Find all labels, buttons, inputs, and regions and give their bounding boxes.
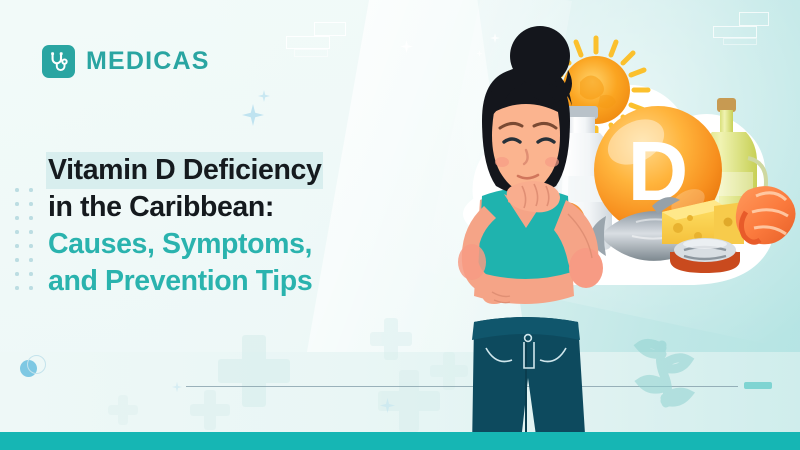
plant-silhouette bbox=[640, 343, 688, 403]
stethoscope-icon bbox=[42, 45, 75, 78]
decor-dot-grid bbox=[10, 183, 38, 295]
headline-line-2: in the Caribbean: bbox=[48, 189, 408, 226]
canned-sardines bbox=[670, 238, 740, 273]
decor-circle-outline bbox=[27, 355, 46, 374]
salmon-steak bbox=[736, 186, 796, 244]
brand-name: MEDICAS bbox=[86, 47, 210, 76]
promo-banner: MEDICAS Vitamin D Deficiency in the Cari… bbox=[0, 0, 800, 450]
medical-cross-icon bbox=[190, 390, 230, 430]
headline-line-4: and Prevention Tips bbox=[48, 263, 408, 300]
medical-cross-icon bbox=[108, 395, 138, 425]
vitamin-d-sources-illustration: D bbox=[400, 0, 800, 450]
headline-line-1-wrap: Vitamin D Deficiency bbox=[48, 152, 408, 189]
footer-bar bbox=[0, 432, 800, 450]
headline-line-1: Vitamin D Deficiency bbox=[46, 152, 323, 189]
brand-logo[interactable]: MEDICAS bbox=[42, 45, 210, 78]
headline-line-3: Causes, Symptoms, bbox=[48, 226, 408, 263]
headline-block: Vitamin D Deficiency in the Caribbean: C… bbox=[48, 152, 408, 300]
